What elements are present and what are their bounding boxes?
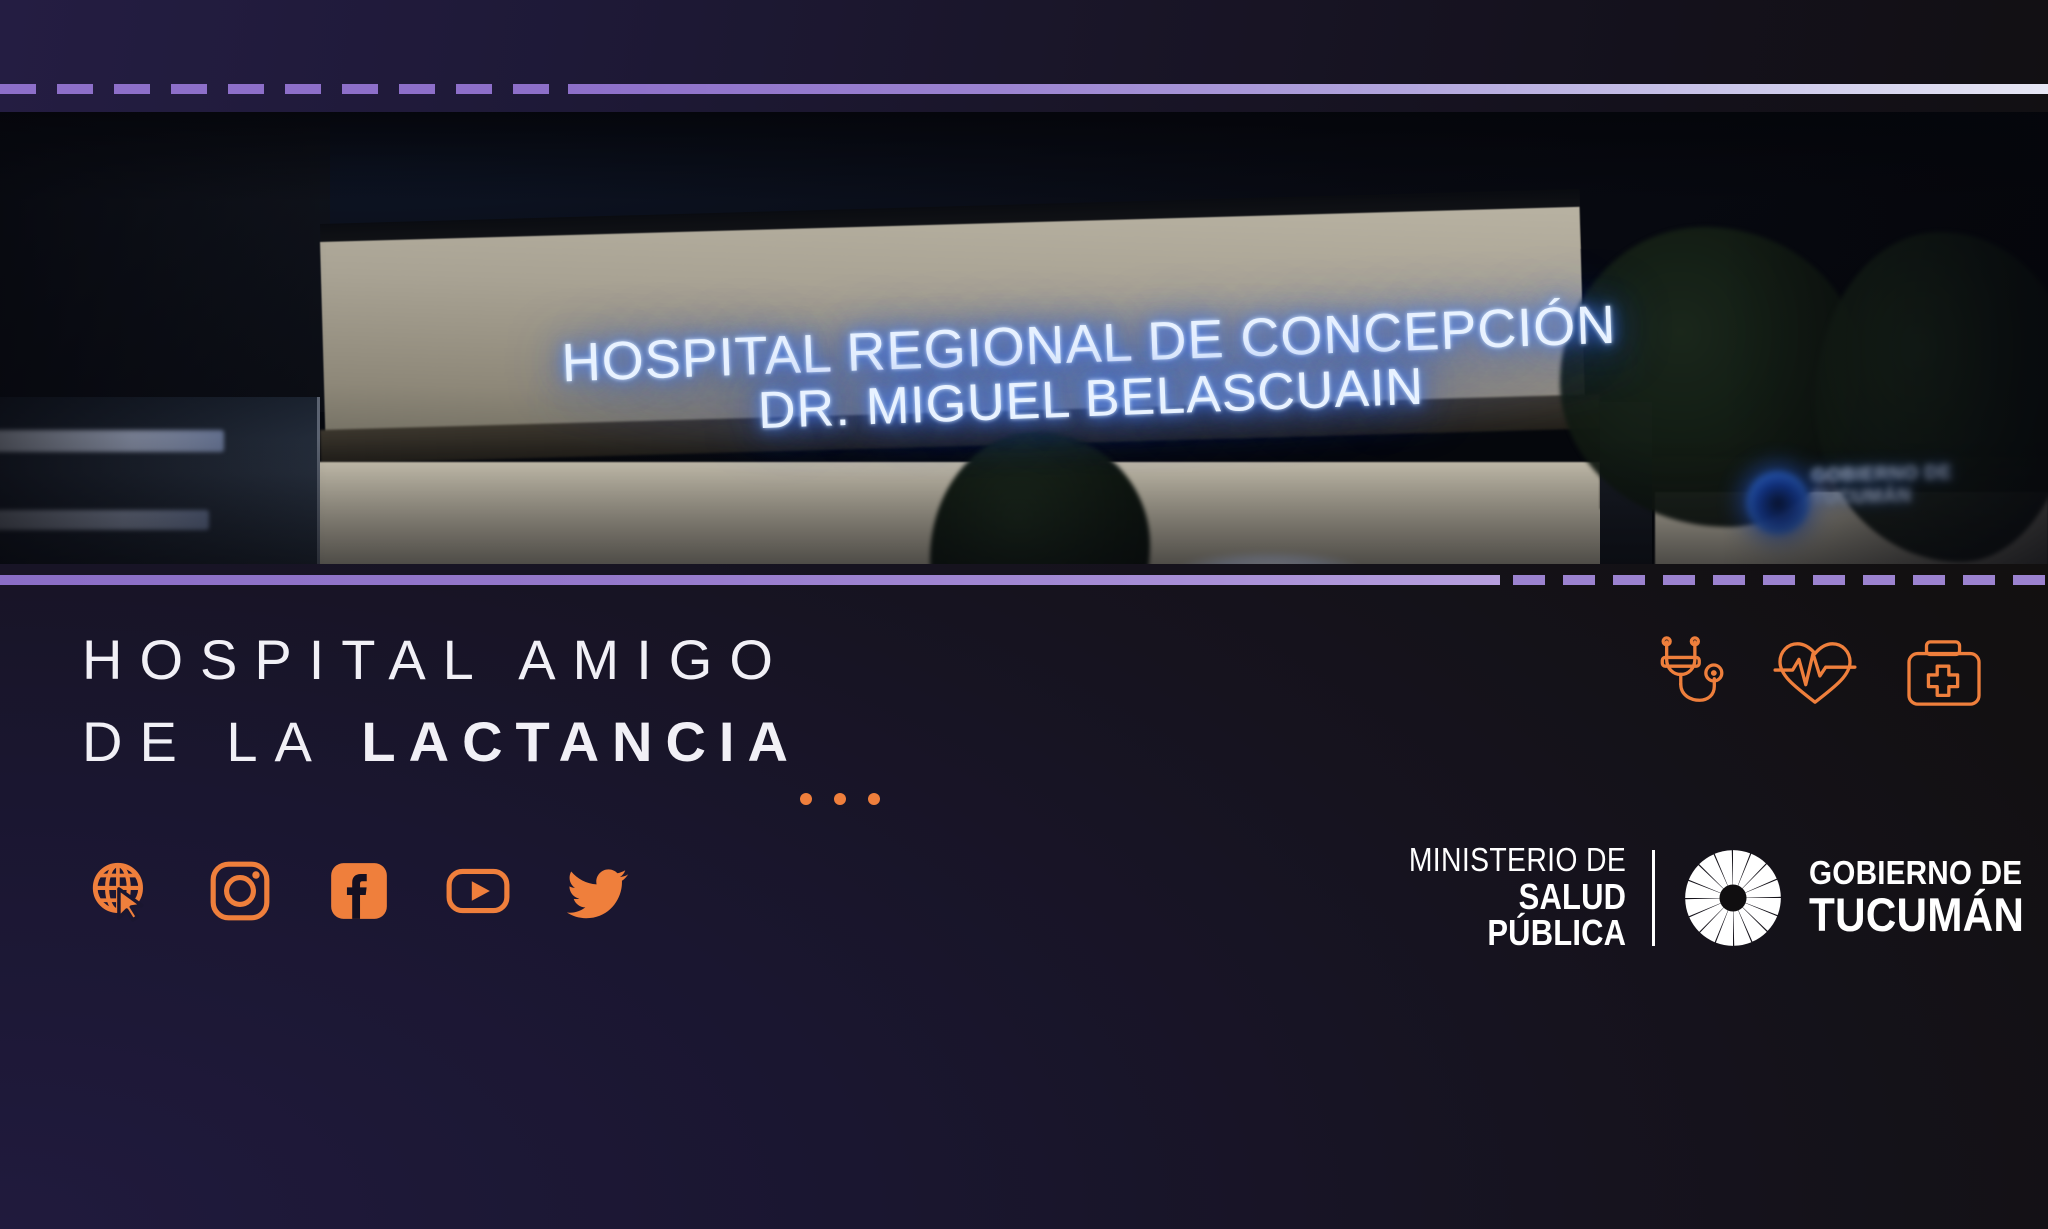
- page-title: HOSPITAL AMIGO DE LA LACTANCIA: [82, 632, 1062, 770]
- facebook-icon[interactable]: [326, 858, 392, 924]
- youtube-icon[interactable]: [445, 858, 511, 924]
- lockup-divider: [1652, 850, 1655, 946]
- twitter-icon[interactable]: [564, 858, 630, 924]
- ministry-line-1: MINISTERIO DE: [1384, 843, 1627, 877]
- tucuman-pinwheel-logo: [1681, 846, 1785, 950]
- social-links[interactable]: [88, 858, 630, 924]
- title-line-1: HOSPITAL AMIGO: [82, 632, 1062, 688]
- government-line-2: TUCUMÁN: [1809, 891, 2024, 939]
- title-line-2-thin: DE LA: [82, 710, 329, 773]
- title-line-2-bold: LACTANCIA: [361, 710, 800, 773]
- first-aid-kit-icon: [1905, 638, 1983, 713]
- top-bar: [0, 0, 2048, 112]
- ministry-logo-text: MINISTERIO DE SALUD PÚBLICA: [1344, 843, 1652, 952]
- poster-canvas: HOSPITAL REGIONAL DE CONCEPCIÓN DR. MIGU…: [0, 0, 2048, 1229]
- top-divider-dashed-segment: [0, 84, 570, 94]
- stethoscope-icon: [1655, 636, 1725, 715]
- bottom-divider-solid-segment: [0, 575, 1500, 585]
- ministry-line-2: SALUD PÚBLICA: [1384, 879, 1627, 952]
- top-divider: [0, 84, 2048, 94]
- accent-dot: [868, 793, 880, 805]
- accent-dot: [834, 793, 846, 805]
- hospital-photo: HOSPITAL REGIONAL DE CONCEPCIÓN DR. MIGU…: [0, 112, 2048, 564]
- institutional-logo-lockup: MINISTERIO DE SALUD PÚBLICA: [1344, 843, 2048, 952]
- photo-vignette: [0, 112, 2048, 564]
- top-divider-solid-segment: [568, 84, 2048, 94]
- government-line-1: GOBIERNO DE: [1809, 856, 2024, 890]
- bottom-divider: [0, 575, 2048, 585]
- medical-icon-row: [1655, 636, 1983, 715]
- accent-dot: [800, 793, 812, 805]
- heartbeat-icon: [1773, 638, 1857, 713]
- bottom-divider-dashed-segment: [1495, 575, 2048, 585]
- website-icon[interactable]: [88, 858, 154, 924]
- government-logo-text: GOBIERNO DE TUCUMÁN: [1785, 856, 2048, 939]
- title-dots-accent: [800, 793, 880, 805]
- instagram-icon[interactable]: [207, 858, 273, 924]
